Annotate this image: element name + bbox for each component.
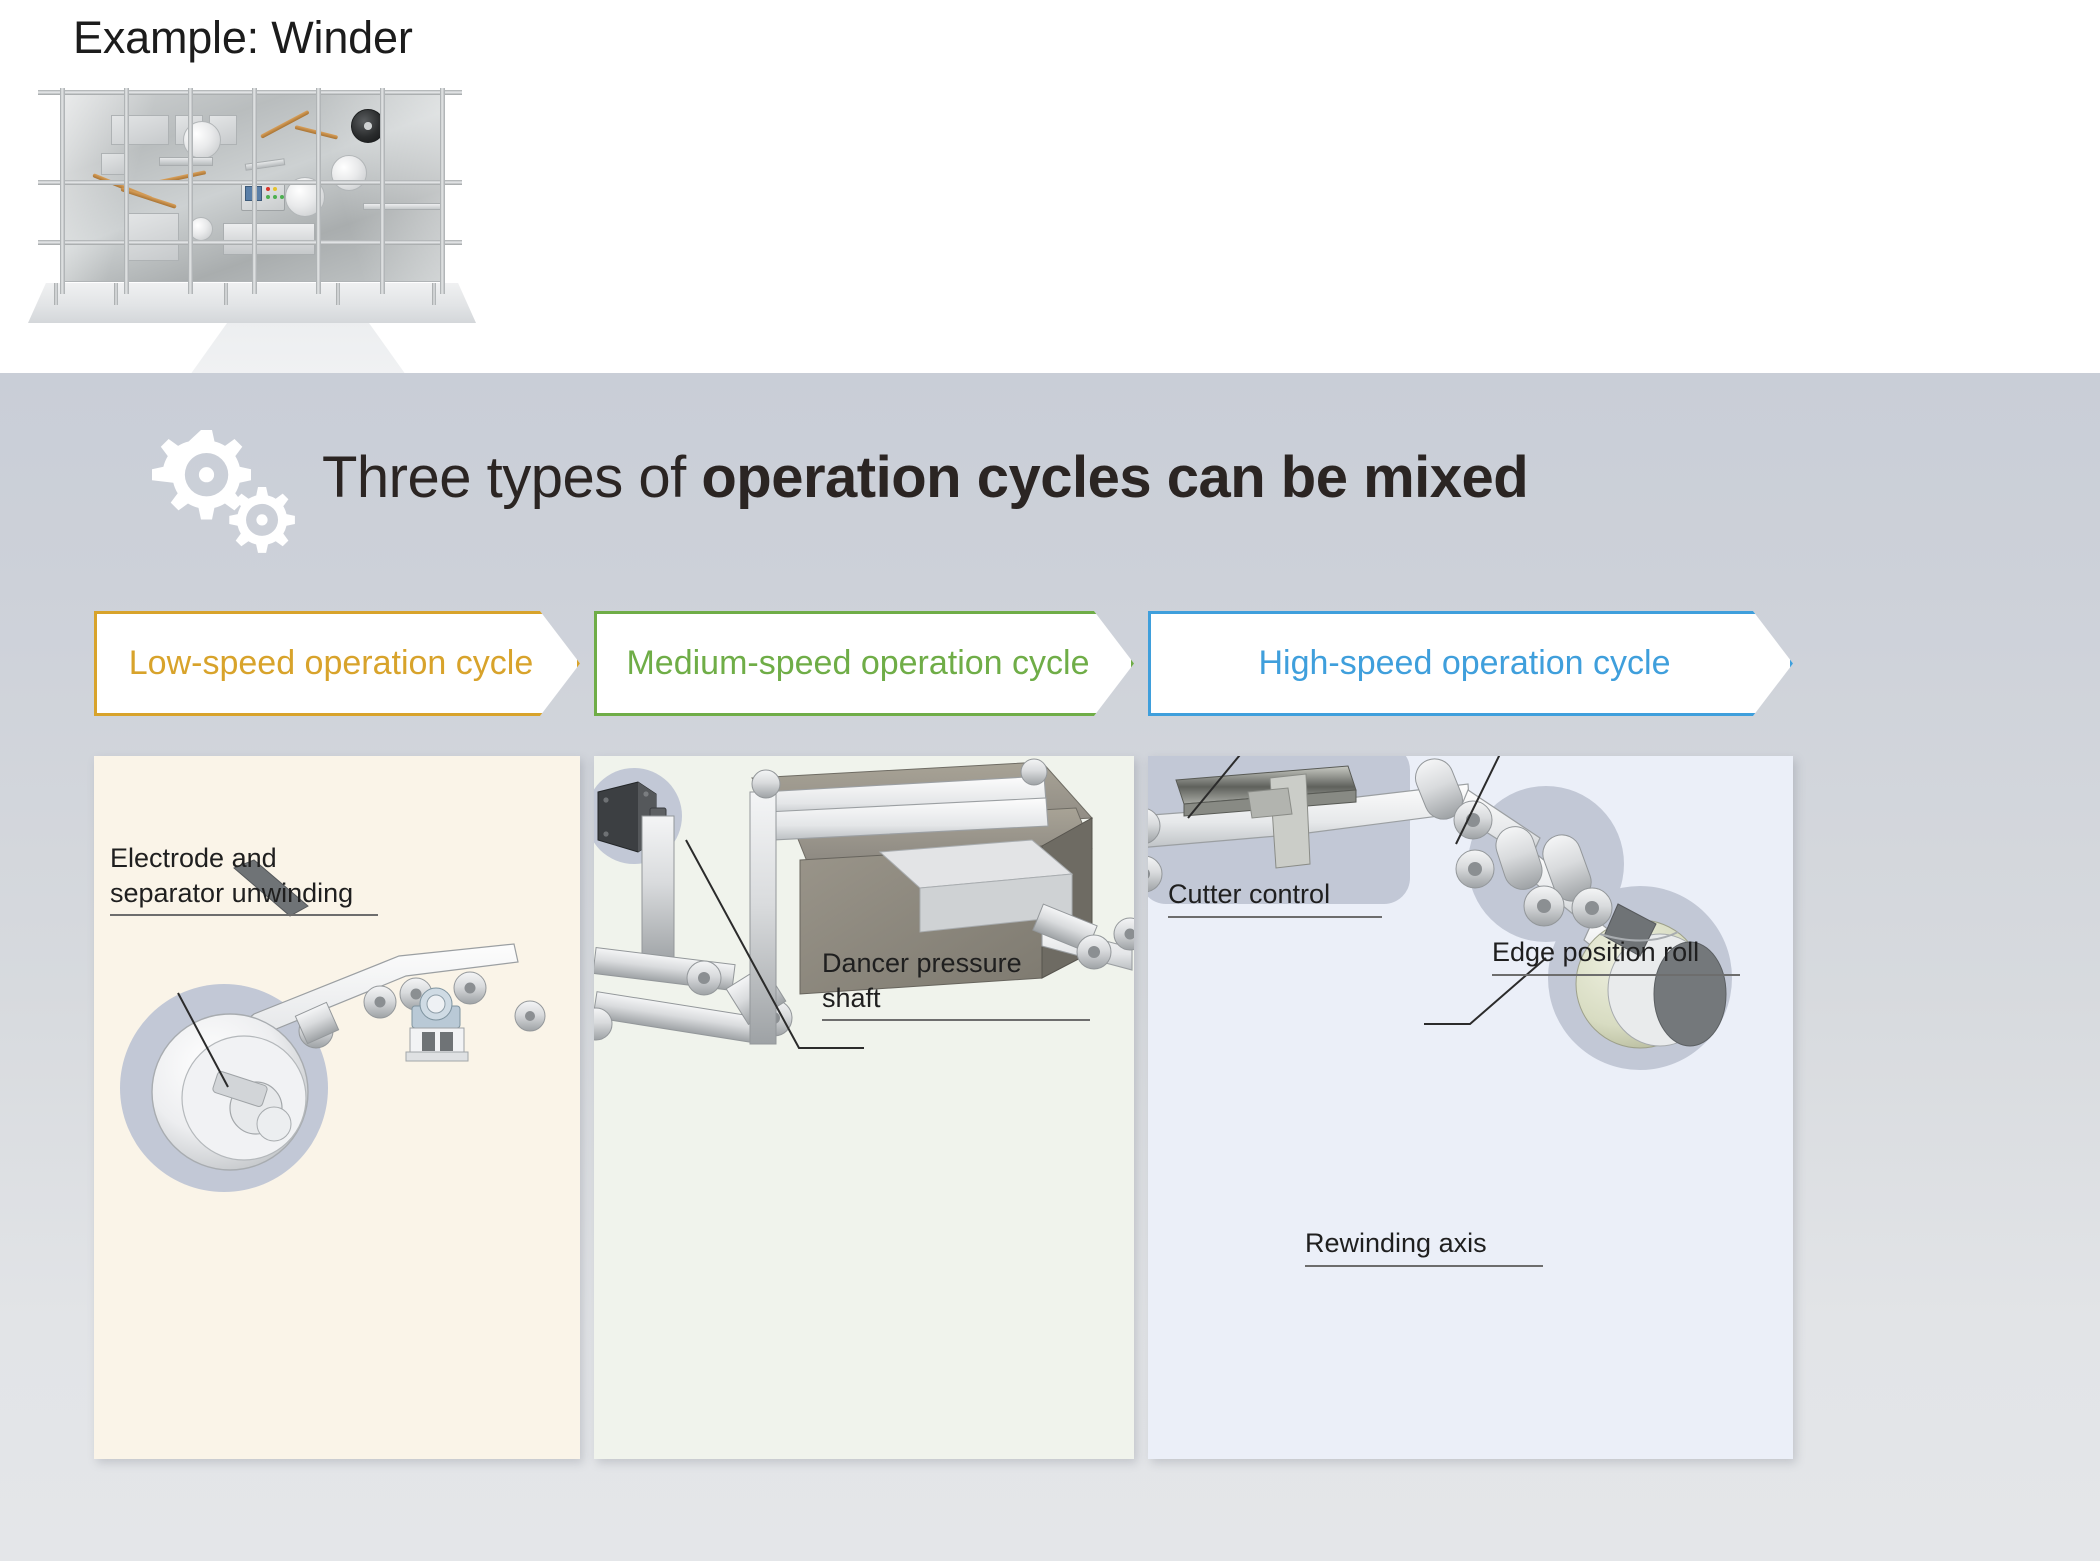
high-speed-panel <box>1148 756 1793 1459</box>
cage-rail-lower <box>38 240 462 245</box>
hmi-operator-panel <box>241 181 285 211</box>
medium-speed-diagram <box>594 756 1134 1459</box>
cross-bar-1 <box>159 157 213 166</box>
tab-medium-speed[interactable]: Medium-speed operation cycle <box>594 611 1134 716</box>
led-green3 <box>280 195 284 199</box>
lower-cabinet <box>125 213 179 261</box>
tab-high-speed-label: High-speed operation cycle <box>1258 643 1670 684</box>
cage-rail-top <box>38 90 462 95</box>
cage-post-2 <box>124 88 129 294</box>
cage-post-3 <box>188 88 193 294</box>
slide-root: Example: Winder <box>0 0 2100 1561</box>
callout-rewinding-axis-label: Rewinding axis <box>1305 1226 1543 1267</box>
cage-post-1 <box>60 88 65 294</box>
tab-medium-speed-label: Medium-speed operation cycle <box>626 643 1089 684</box>
led-red <box>266 187 270 191</box>
tab-high-speed[interactable]: High-speed operation cycle <box>1148 611 1793 716</box>
high-speed-diagram <box>1148 756 1793 1459</box>
exit-conveyor <box>363 203 443 210</box>
tab-low-speed[interactable]: Low-speed operation cycle <box>94 611 580 716</box>
junction-box <box>101 153 125 175</box>
led-green2 <box>273 195 277 199</box>
platform-leg-5 <box>432 283 436 305</box>
platform-leg-2 <box>114 283 118 305</box>
callout-edge-position-roll-label: Edge position roll <box>1492 935 1740 976</box>
led-green1 <box>266 195 270 199</box>
gears-icon <box>146 424 306 554</box>
cage-rail-middle <box>38 180 462 185</box>
cage-post-6 <box>380 88 385 294</box>
headline: Three types of operation cycles can be m… <box>322 444 1528 511</box>
cage-post-7 <box>440 88 445 294</box>
cage-post-5 <box>316 88 321 294</box>
headline-bold: operation cycles can be mixed <box>701 445 1528 510</box>
unwind-shaft-hub <box>257 1107 291 1141</box>
callout-dancer-pressure-shaft: Dancer pressure shaft <box>822 946 1090 1021</box>
platform-leg-4 <box>336 283 340 305</box>
tab-low-speed-label: Low-speed operation cycle <box>129 643 533 684</box>
callout-cutter-control-label: Cutter control <box>1168 877 1382 918</box>
winder-machine-illustration <box>28 88 476 323</box>
page-title: Example: Winder <box>73 12 413 64</box>
led-yellow <box>273 187 277 191</box>
low-speed-panel: Electrode and separator unwinding <box>94 756 580 1459</box>
conveyor-deck <box>223 223 315 255</box>
cutter-blade-holder <box>1270 774 1310 868</box>
medium-speed-panel: Dancer pressure shaft <box>594 756 1134 1459</box>
headline-regular: Three types of <box>322 445 701 510</box>
cage-post-4 <box>252 88 257 294</box>
callout-electrode-separator-unwinding: Electrode and separator unwinding <box>110 841 378 916</box>
platform-leg-1 <box>54 283 58 305</box>
control-panel-left <box>111 115 169 145</box>
platform-leg-3 <box>224 283 228 305</box>
title-band: Example: Winder <box>0 0 2100 373</box>
rewind-roll <box>331 155 367 191</box>
